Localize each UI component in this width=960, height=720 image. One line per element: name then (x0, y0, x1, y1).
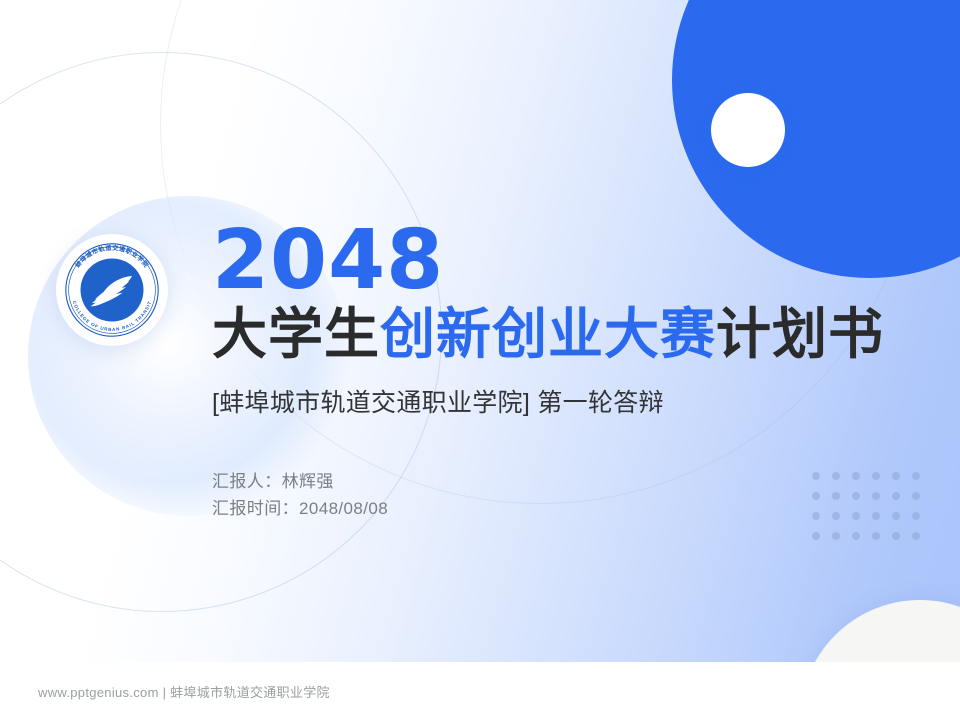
main-title-accent: 创新创业大赛 (380, 303, 716, 365)
decorative-white-circle (711, 93, 785, 167)
main-title-tail: 计划书 (716, 303, 884, 365)
subtitle: [蚌埠城市轨道交通职业学院] 第一轮答辩 (212, 387, 912, 420)
title-block: 2048 大学生创新创业大赛计划书 [蚌埠城市轨道交通职业学院] 第一轮答辩 汇… (212, 222, 912, 523)
footer-text: www.pptgenius.com | 蚌埠城市轨道交通职业学院 (38, 682, 330, 701)
main-title-lead: 大学生 (212, 303, 380, 365)
presenter-name: 汇报人：林辉强 (212, 468, 912, 496)
school-emblem-icon: 2024 蚌埠城市轨道交通职业学院 COLLEGE OF URBAN RAIL … (60, 238, 164, 342)
footer: www.pptgenius.com | 蚌埠城市轨道交通职业学院 (0, 662, 960, 720)
school-logo: 2024 蚌埠城市轨道交通职业学院 COLLEGE OF URBAN RAIL … (56, 234, 168, 346)
year-heading: 2048 (212, 222, 912, 299)
presentation-cover-slide: 2024 蚌埠城市轨道交通职业学院 COLLEGE OF URBAN RAIL … (0, 0, 960, 720)
main-title: 大学生创新创业大赛计划书 (212, 305, 912, 363)
presenter-meta: 汇报人：林辉强 汇报时间：2048/08/08 (212, 468, 912, 523)
presentation-date: 汇报时间：2048/08/08 (212, 495, 912, 523)
